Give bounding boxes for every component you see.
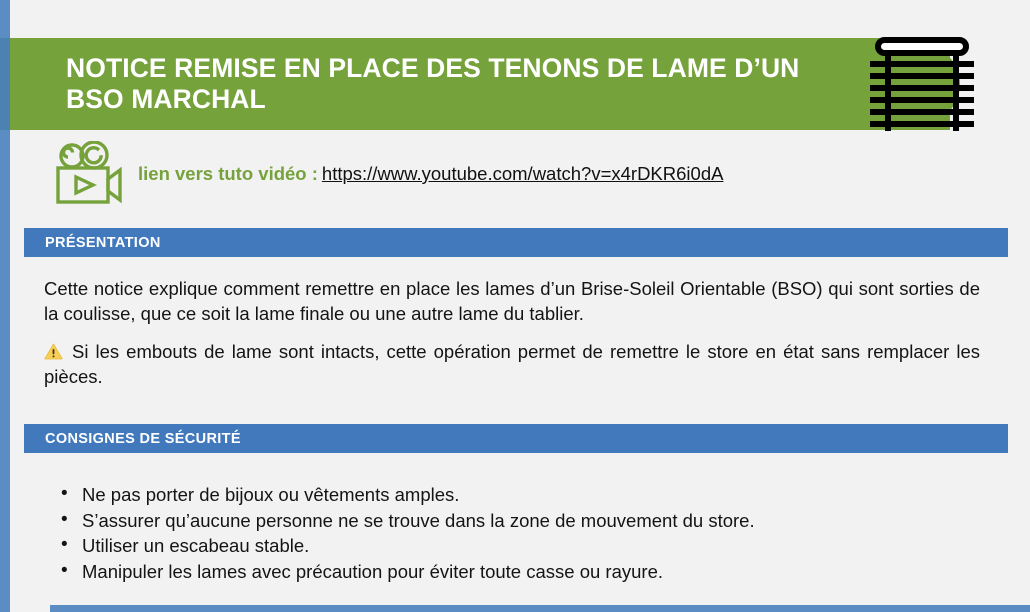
document-title-banner: NOTICE REMISE EN PLACE DES TENONS DE LAM…	[10, 38, 950, 130]
section-header-securite: CONSIGNES DE SÉCURITÉ	[24, 424, 1008, 453]
presentation-warning-sentence: Si les embouts de lame sont intacts, cet…	[44, 341, 980, 387]
video-camera-icon	[50, 141, 128, 207]
page-bottom-border-rule	[50, 605, 1030, 612]
section-header-presentation: PRÉSENTATION	[24, 228, 1008, 257]
section-header-securite-label: CONSIGNES DE SÉCURITÉ	[24, 431, 241, 447]
page-left-border-rule-accent	[0, 38, 10, 130]
list-item: S’assurer qu’aucune personne ne se trouv…	[82, 508, 1018, 534]
video-tutorial-row[interactable]: lien vers tuto vidéo : https://www.youtu…	[50, 138, 723, 210]
page-title: NOTICE REMISE EN PLACE DES TENONS DE LAM…	[10, 53, 950, 116]
section-header-presentation-label: PRÉSENTATION	[24, 235, 161, 251]
presentation-intro-block: Cette notice explique comment remettre e…	[44, 277, 980, 326]
video-link-label: lien vers tuto vidéo :	[138, 163, 318, 185]
window-blinds-icon	[862, 30, 982, 138]
presentation-warning-block: Si les embouts de lame sont intacts, cet…	[44, 340, 980, 389]
safety-instruction-list: Ne pas porter de bijoux ou vêtements amp…	[44, 482, 1018, 585]
list-item: Utiliser un escabeau stable.	[82, 533, 1018, 559]
video-link-url[interactable]: https://www.youtube.com/watch?v=x4rDKR6i…	[322, 163, 724, 185]
presentation-warning-text: Si les embouts de lame sont intacts, cet…	[44, 340, 980, 389]
list-item: Manipuler les lames avec précaution pour…	[82, 559, 1018, 585]
warning-triangle-icon	[44, 342, 63, 359]
list-item: Ne pas porter de bijoux ou vêtements amp…	[82, 482, 1018, 508]
presentation-intro-text: Cette notice explique comment remettre e…	[44, 277, 980, 326]
